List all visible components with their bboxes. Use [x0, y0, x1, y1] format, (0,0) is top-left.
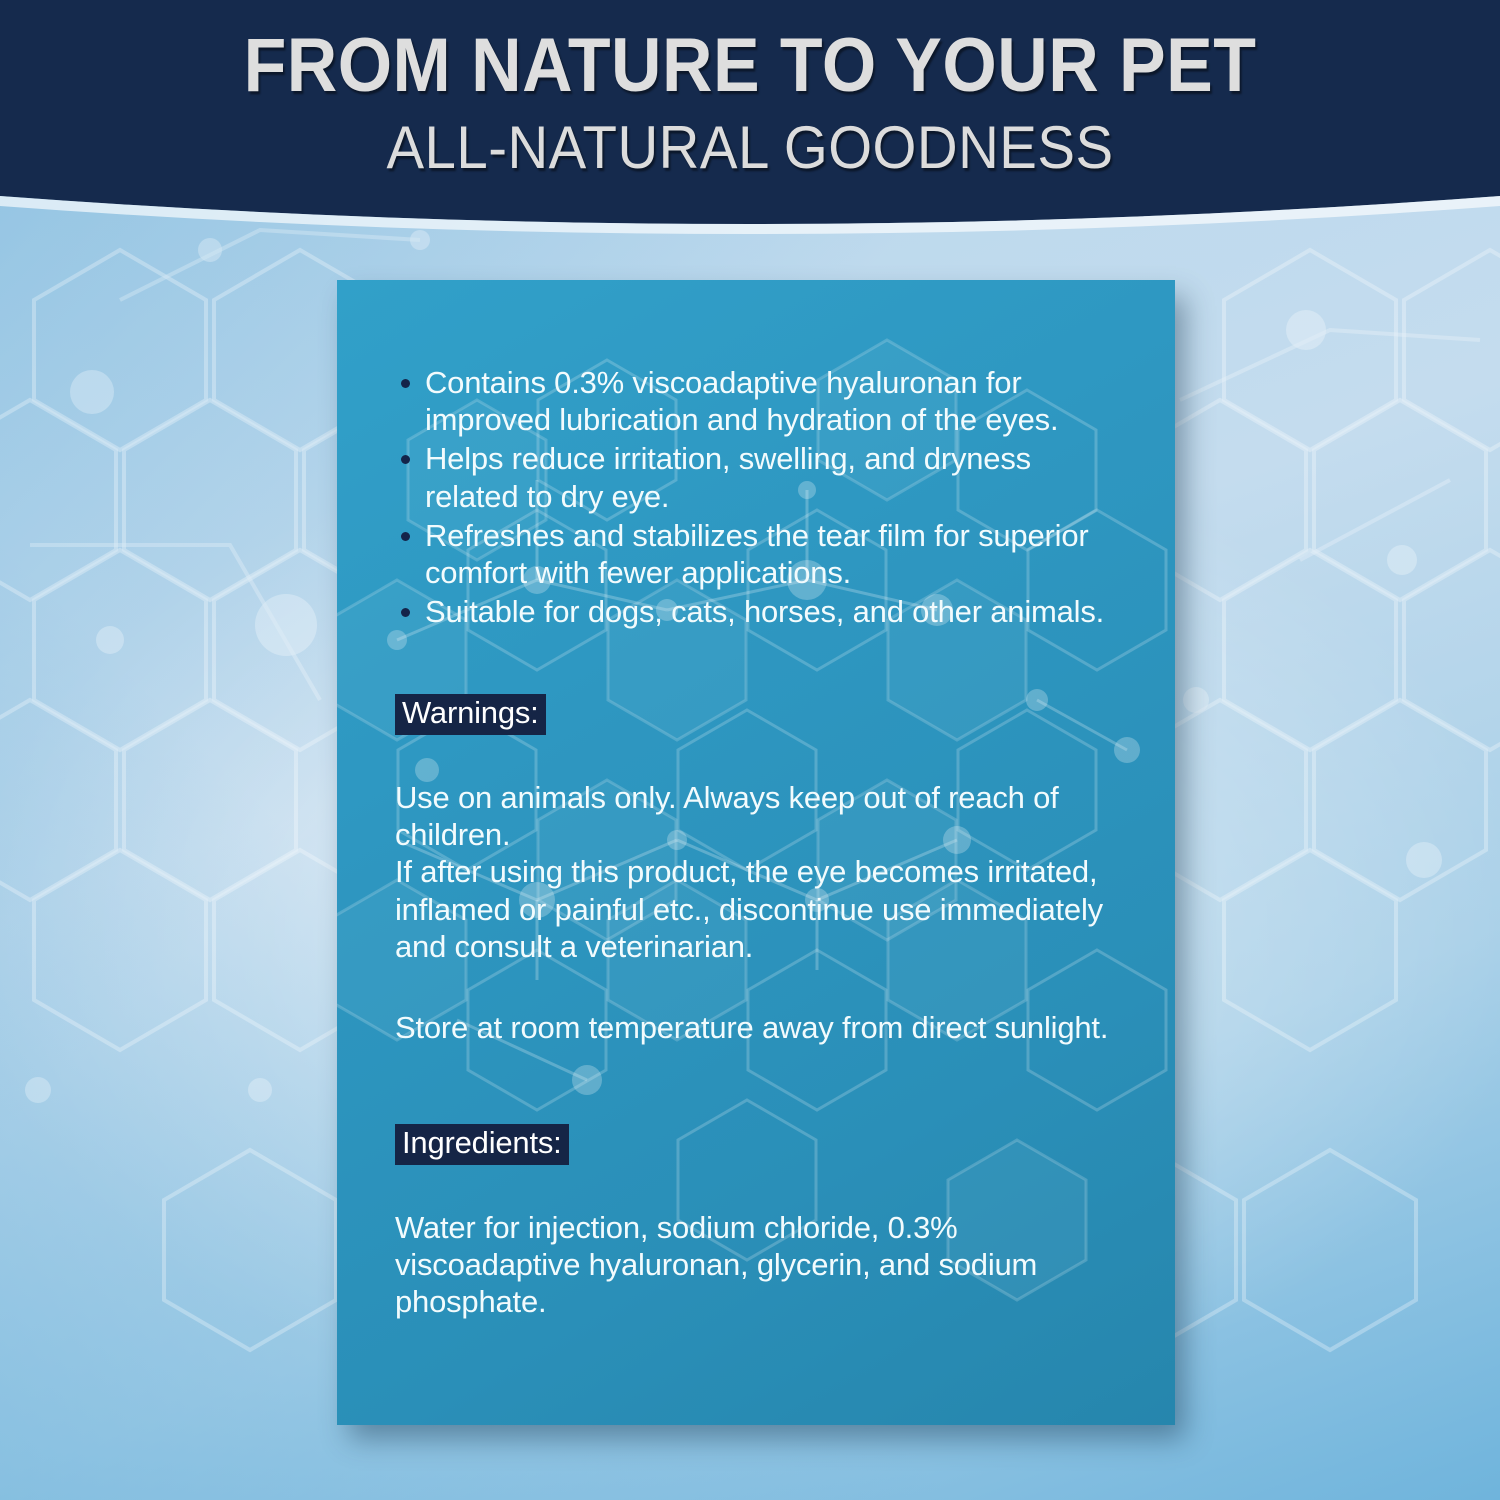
list-item-text: Refreshes and stabilizes the tear film f…: [425, 518, 1089, 590]
page-subtitle: ALL-NATURAL GOODNESS: [45, 104, 1455, 178]
list-item-text: Contains 0.3% viscoadaptive hyaluronan f…: [425, 365, 1058, 437]
list-item: Contains 0.3% viscoadaptive hyaluronan f…: [395, 364, 1117, 438]
page-title: FROM NATURE TO YOUR PET: [60, 0, 1440, 104]
list-item-text: Helps reduce irritation, swelling, and d…: [425, 441, 1031, 513]
bullet-dot-icon: [401, 455, 410, 464]
bullet-dot-icon: [401, 532, 410, 541]
benefits-list: Contains 0.3% viscoadaptive hyaluronan f…: [395, 364, 1117, 630]
product-infographic: FROM NATURE TO YOUR PET ALL-NATURAL GOOD…: [0, 0, 1500, 1500]
spacer: [395, 1046, 1117, 1124]
header-banner: FROM NATURE TO YOUR PET ALL-NATURAL GOOD…: [0, 0, 1500, 250]
spacer: [395, 1165, 1117, 1209]
spacer: [395, 965, 1117, 1009]
list-item: Helps reduce irritation, swelling, and d…: [395, 440, 1117, 514]
warnings-section: Warnings: Use on animals only. Always ke…: [395, 694, 1117, 1046]
spacer: [395, 735, 1117, 779]
spacer: [395, 632, 1117, 694]
list-item: Refreshes and stabilizes the tear film f…: [395, 517, 1117, 591]
ingredients-heading: Ingredients:: [395, 1124, 569, 1165]
warnings-body: Use on animals only. Always keep out of …: [395, 779, 1117, 965]
panel-content: Contains 0.3% viscoadaptive hyaluronan f…: [337, 280, 1175, 1425]
warnings-heading: Warnings:: [395, 694, 546, 735]
bullet-dot-icon: [401, 608, 410, 617]
ingredients-body: Water for injection, sodium chloride, 0.…: [395, 1209, 1117, 1321]
list-item: Suitable for dogs, cats, horses, and oth…: [395, 593, 1117, 630]
ingredients-section: Ingredients: Water for injection, sodium…: [395, 1124, 1117, 1320]
content-panel: Contains 0.3% viscoadaptive hyaluronan f…: [337, 280, 1175, 1425]
storage-text: Store at room temperature away from dire…: [395, 1009, 1117, 1046]
bullet-dot-icon: [401, 379, 410, 388]
list-item-text: Suitable for dogs, cats, horses, and oth…: [425, 594, 1104, 629]
